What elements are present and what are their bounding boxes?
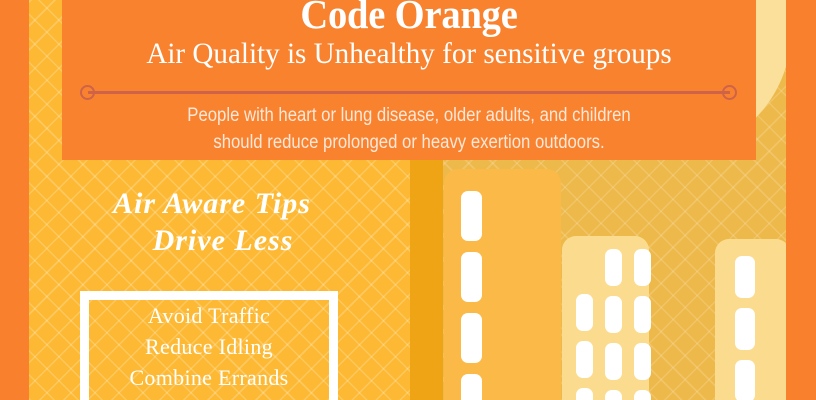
window (576, 388, 593, 400)
tip-item: Reduce Idling (80, 331, 338, 362)
window (461, 374, 482, 400)
window (576, 341, 593, 378)
window (634, 343, 651, 380)
window (735, 360, 755, 400)
window (605, 390, 622, 400)
divider-line (88, 91, 730, 94)
page-title: Code Orange (83, 0, 735, 35)
advisory-text: People with heart or lung disease, older… (62, 102, 756, 156)
building-right (715, 239, 786, 400)
page-subtitle: Air Quality is Unhealthy for sensitive g… (72, 35, 745, 71)
right-orange-border (786, 0, 816, 400)
air-quality-poster: Code Orange Air Quality is Unhealthy for… (0, 0, 816, 400)
window (461, 252, 482, 302)
window (605, 249, 622, 286)
divider-right-dot-icon (722, 85, 737, 100)
advisory-line: People with heart or lung disease, older… (104, 102, 715, 129)
building-middle (562, 236, 649, 400)
building-left (444, 169, 561, 400)
alert-header-card: Code Orange Air Quality is Unhealthy for… (62, 0, 756, 160)
window (634, 390, 651, 400)
window (605, 343, 622, 380)
window (461, 191, 482, 241)
window (735, 308, 755, 350)
advisory-line: should reduce prolonged or heavy exertio… (104, 129, 715, 156)
tip-item: Combine Errands (80, 362, 338, 393)
tips-heading-group: Air Aware Tips Drive Less (82, 186, 342, 260)
tips-heading: Air Aware Tips (82, 186, 342, 222)
tips-subheading: Drive Less (82, 222, 342, 260)
window (605, 296, 622, 333)
window (634, 249, 651, 286)
window (461, 313, 482, 363)
left-orange-border (0, 0, 29, 400)
window (735, 256, 755, 298)
tip-item: Avoid Traffic (80, 300, 338, 331)
window (634, 296, 651, 333)
window (576, 294, 593, 331)
divider (80, 85, 738, 101)
tips-list: Avoid Traffic Reduce Idling Combine Erra… (80, 300, 338, 393)
